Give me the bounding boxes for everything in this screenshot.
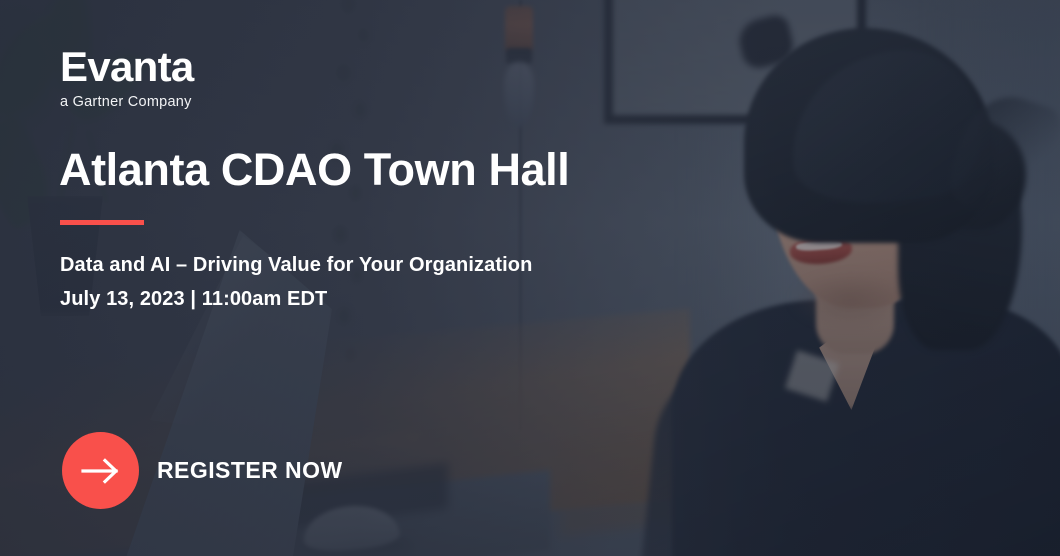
register-now-button[interactable]: REGISTER NOW: [62, 432, 343, 509]
arrow-right-icon[interactable]: [62, 432, 139, 509]
accent-divider: [60, 220, 144, 225]
banner-content: Evanta a Gartner Company Atlanta CDAO To…: [0, 0, 1060, 556]
logo-tagline: a Gartner Company: [60, 95, 194, 110]
event-promo-banner: Evanta a Gartner Company Atlanta CDAO To…: [0, 0, 1060, 556]
event-datetime: July 13, 2023 | 11:00am EDT: [60, 282, 532, 316]
event-subtitle: Data and AI – Driving Value for Your Org…: [60, 248, 532, 282]
register-now-label: REGISTER NOW: [157, 457, 343, 484]
evanta-logo[interactable]: Evanta a Gartner Company: [60, 46, 194, 110]
event-details: Data and AI – Driving Value for Your Org…: [60, 248, 532, 317]
logo-wordmark: Evanta: [60, 46, 194, 88]
event-headline: Atlanta CDAO Town Hall: [59, 146, 569, 195]
